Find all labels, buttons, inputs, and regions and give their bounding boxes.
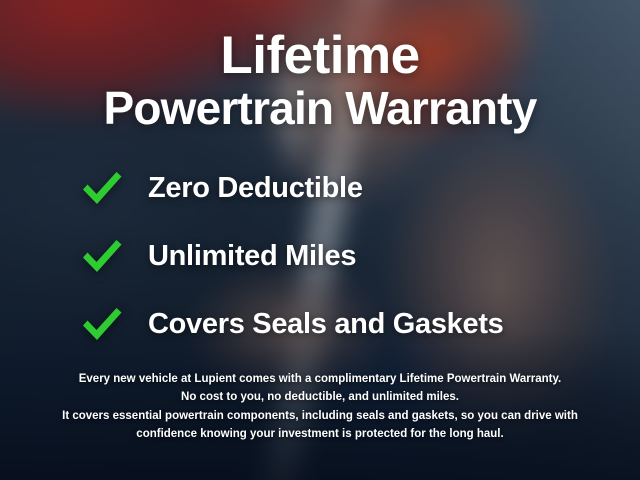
footer-line-1: Every new vehicle at Lupient comes with … [46,370,594,389]
feature-item-covers-seals-and-gaskets: Covers Seals and Gaskets [80,304,622,344]
feature-item-zero-deductible: Zero Deductible [80,168,622,208]
feature-label-zero-deductible: Zero Deductible [148,172,363,205]
headline-line-1: Lifetime [18,28,622,83]
headline-line-2: Powertrain Warranty [18,83,622,135]
footer-line-2: No cost to you, no deductible, and unlim… [46,388,594,407]
footer-description: Every new vehicle at Lupient comes with … [18,370,622,467]
feature-list: Zero Deductible Unlimited Miles Covers S… [18,135,622,370]
green-check-icon [80,304,124,344]
feature-label-covers-seals-and-gaskets: Covers Seals and Gaskets [148,308,504,341]
footer-line-3: It covers essential powertrain component… [46,407,594,426]
feature-label-unlimited-miles: Unlimited Miles [148,240,356,273]
green-check-icon [80,236,124,276]
lifetime-powertrain-warranty-banner: Lifetime Powertrain Warranty Zero Deduct… [0,0,640,480]
banner-content: Lifetime Powertrain Warranty Zero Deduct… [0,0,640,480]
green-check-icon [80,168,124,208]
headline-block: Lifetime Powertrain Warranty [18,28,622,135]
feature-item-unlimited-miles: Unlimited Miles [80,236,622,276]
footer-line-4: confidence knowing your investment is pr… [46,425,594,444]
